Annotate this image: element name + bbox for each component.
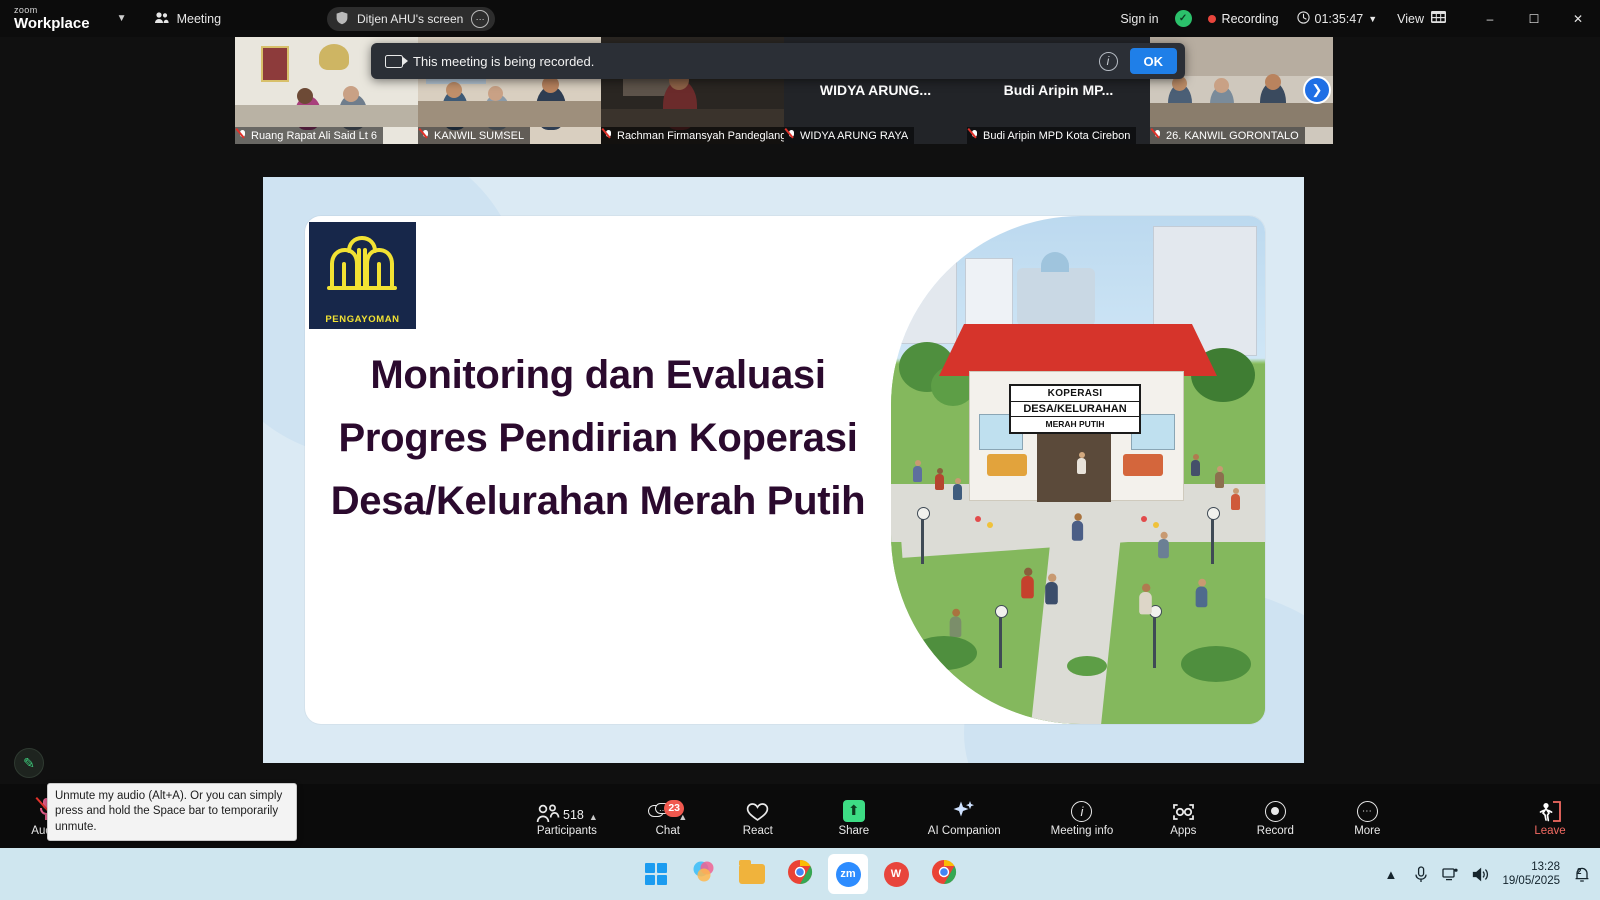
recording-camera-icon — [385, 55, 403, 68]
thumbnail-name-label: WIDYA ARUNG RAYA — [784, 127, 914, 144]
title-bar-right-controls: Sign in ✓ Recording 01:35:47 ▼ View – ☐ — [1120, 0, 1600, 37]
clock-date: 19/05/2025 — [1502, 874, 1560, 888]
bell-icon[interactable]: 2 — [1573, 866, 1590, 883]
share-screen-icon: ⬆ — [843, 796, 865, 822]
heart-icon — [746, 796, 769, 822]
notification-count: 2 — [1577, 867, 1581, 876]
more-button[interactable]: ⋯ More — [1335, 784, 1399, 848]
person-figure — [1231, 488, 1240, 510]
thumbnail-name-label: Budi Aripin MPD Kota Cirebon — [967, 127, 1136, 144]
shrub — [911, 636, 977, 670]
slide-title: Monitoring dan Evaluasi Progres Pendiria… — [305, 344, 891, 534]
shield-check-icon[interactable]: ✓ — [1175, 10, 1192, 27]
network-icon[interactable] — [1442, 866, 1459, 883]
person-figure — [953, 478, 962, 500]
flower — [975, 516, 981, 522]
view-label: View — [1397, 12, 1424, 26]
thumbnail-name-label: 26. KANWIL GORONTALO — [1150, 127, 1305, 144]
logo-zoom-text: zoom — [14, 6, 90, 15]
recording-status-label: Recording — [1222, 12, 1279, 26]
chrome-icon — [931, 859, 957, 890]
person-figure — [1215, 466, 1224, 488]
chevron-down-icon[interactable]: ▼ — [1368, 14, 1377, 24]
thumbnail-name-label: Rachman Firmansyah Pandeglang — [601, 127, 784, 144]
meeting-info-button[interactable]: i Meeting info — [1039, 784, 1126, 848]
chat-icon-group: ⋯ 23 ▲ — [648, 796, 687, 822]
grid-layout-icon — [1431, 11, 1446, 26]
close-icon[interactable]: ✕ — [1556, 0, 1600, 37]
thumbnail-name-label: KANWIL SUMSEL — [418, 127, 530, 144]
flower — [1141, 516, 1147, 522]
minimize-icon[interactable]: – — [1468, 0, 1512, 37]
thumbnail-display-name: Budi Aripin MP... — [967, 82, 1150, 98]
start-button[interactable] — [636, 854, 676, 894]
produce-stand — [1123, 454, 1163, 476]
participants-icon-group: 518 ▲ — [536, 796, 598, 822]
ai-companion-label: AI Companion — [928, 825, 1001, 837]
maximize-icon[interactable]: ☐ — [1512, 0, 1556, 37]
sparkle-icon — [952, 796, 976, 822]
screen-share-indicator[interactable]: Ditjen AHU's screen ⋯ — [327, 7, 495, 31]
person-figure — [1045, 574, 1058, 605]
microphone-icon[interactable] — [1412, 866, 1429, 883]
zoom-app[interactable]: zm — [828, 854, 868, 894]
more-dots-icon: ⋯ — [1357, 796, 1378, 822]
meeting-tab-label: Meeting — [177, 12, 221, 26]
view-button[interactable]: View — [1397, 11, 1446, 26]
meeting-tab[interactable]: Meeting — [154, 11, 221, 27]
person-figure — [913, 460, 922, 482]
chat-unread-badge: 23 — [664, 800, 684, 817]
chevron-down-icon[interactable]: ▼ — [112, 9, 132, 29]
logo-wordmark: PENGAYOMAN — [325, 314, 399, 325]
system-tray: ▲ 13:28 19/05/2025 — [1382, 860, 1590, 889]
shrub — [1067, 656, 1107, 676]
pencil-icon: ✎ — [23, 755, 35, 772]
more-label: More — [1354, 825, 1380, 837]
sign-line-1: KOPERASI — [1011, 388, 1139, 399]
shop-roof — [939, 324, 1217, 376]
wps-icon: W — [884, 862, 909, 887]
info-icon: i — [1071, 796, 1092, 822]
react-label: React — [743, 825, 773, 837]
zoom-workplace-logo: zoom Workplace — [14, 6, 90, 31]
participants-icon — [536, 804, 558, 822]
photos-app[interactable] — [684, 854, 724, 894]
leave-label: Leave — [1534, 825, 1565, 837]
recording-notification-banner: This meeting is being recorded. i OK — [371, 43, 1185, 79]
record-circle-icon — [1265, 796, 1286, 822]
apps-grid-icon — [1172, 796, 1195, 822]
apps-label: Apps — [1170, 825, 1196, 837]
clock-time: 13:28 — [1502, 860, 1560, 874]
ai-companion-button[interactable]: AI Companion — [916, 784, 1013, 848]
produce-stand — [987, 454, 1027, 476]
ok-button[interactable]: OK — [1130, 48, 1178, 74]
participants-count: 518 — [563, 808, 584, 822]
shop-sign: KOPERASI DESA/KELURAHAN MERAH PUTIH — [1009, 384, 1141, 434]
taskbar-apps: zm W — [636, 854, 964, 894]
title-bar: zoom Workplace ▼ Meeting Ditjen AHU's sc… — [0, 0, 1600, 37]
taskbar-clock[interactable]: 13:28 19/05/2025 — [1502, 860, 1560, 889]
speaker-icon[interactable] — [1472, 866, 1489, 883]
recording-status[interactable]: Recording — [1208, 12, 1279, 26]
flower — [987, 522, 993, 528]
more-dots-icon[interactable]: ⋯ — [471, 10, 489, 28]
microphone-muted-icon — [604, 129, 613, 142]
microphone-muted-icon — [238, 129, 247, 142]
photos-icon — [691, 859, 717, 890]
chat-label: Chat — [656, 825, 680, 837]
person-figure — [1077, 452, 1086, 474]
street-lamp — [1153, 614, 1156, 668]
apps-button[interactable]: Apps — [1151, 784, 1215, 848]
info-icon[interactable]: i — [1099, 52, 1118, 71]
shrub — [1181, 646, 1251, 682]
plaza-structure — [1017, 268, 1095, 326]
street-lamp — [999, 614, 1002, 668]
thumbnail-display-name: WIDYA ARUNG... — [784, 82, 967, 98]
fountain — [1041, 252, 1069, 272]
pengayoman-logo: PENGAYOMAN — [309, 222, 416, 329]
microphone-muted-icon — [970, 129, 979, 142]
person-figure — [1191, 454, 1200, 476]
share-pill-label: Ditjen AHU's screen — [357, 12, 463, 26]
record-button[interactable]: Record — [1243, 784, 1307, 848]
thumbnail-name-label: Ruang Rapat Ali Said Lt 6 — [235, 127, 383, 144]
leave-button[interactable]: Leave — [1518, 784, 1582, 848]
sign-in-link[interactable]: Sign in — [1120, 12, 1158, 26]
zoom-meeting-window: zoom Workplace ▼ Meeting Ditjen AHU's sc… — [0, 0, 1600, 900]
audio-tooltip: Unmute my audio (Alt+A). Or you can simp… — [47, 783, 297, 841]
chat-button[interactable]: ⋯ 23 ▲ Chat — [636, 784, 700, 848]
windows-taskbar: zm W ▲ — [0, 848, 1600, 900]
share-button[interactable]: ⬆ Share — [822, 784, 886, 848]
recording-dot-icon — [1208, 15, 1216, 23]
shared-screen-content[interactable]: PENGAYOMAN Monitoring dan Evaluasi Progr… — [263, 177, 1304, 763]
recording-banner-text: This meeting is being recorded. — [413, 54, 1099, 69]
person-figure — [935, 468, 944, 490]
shop-door — [1037, 422, 1111, 502]
chevron-up-icon[interactable]: ▲ — [1382, 866, 1399, 883]
chevron-right-icon[interactable]: ❯ — [1303, 76, 1331, 104]
chrome-icon — [787, 859, 813, 890]
microphone-muted-icon — [421, 129, 430, 142]
flower — [1153, 522, 1159, 528]
chat-bubble-icon: ⋯ 23 — [648, 803, 671, 822]
file-explorer[interactable] — [732, 854, 772, 894]
folder-icon — [739, 864, 765, 884]
leave-door-icon — [1538, 796, 1562, 822]
slide-illustration: KOPERASI DESA/KELURAHAN MERAH PUTIH — [891, 216, 1265, 724]
person-figure — [1158, 532, 1169, 558]
street-lamp — [1211, 516, 1214, 564]
meeting-timer-label: 01:35:47 — [1315, 12, 1364, 26]
wps-office[interactable]: W — [876, 854, 916, 894]
react-button[interactable]: React — [726, 784, 790, 848]
windows-logo-icon — [645, 863, 667, 885]
meeting-info-label: Meeting info — [1051, 825, 1114, 837]
clock-icon — [1297, 11, 1310, 27]
participants-button[interactable]: 518 ▲ Participants — [524, 784, 610, 848]
person-figure — [1072, 513, 1083, 541]
record-label: Record — [1257, 825, 1294, 837]
chrome-browser[interactable] — [780, 854, 820, 894]
participants-label: Participants — [537, 825, 597, 837]
person-figure — [1021, 568, 1034, 599]
presentation-slide: PENGAYOMAN Monitoring dan Evaluasi Progr… — [305, 216, 1265, 724]
logo-workplace-text: Workplace — [14, 16, 90, 31]
zoom-icon: zm — [836, 862, 861, 887]
building — [901, 234, 957, 344]
person-figure — [1139, 584, 1152, 615]
shield-share-icon — [335, 11, 349, 28]
sign-line-2: DESA/KELURAHAN — [1011, 401, 1139, 417]
share-label: Share — [838, 825, 869, 837]
sign-line-3: MERAH PUTIH — [1011, 419, 1139, 429]
slide-text-column: PENGAYOMAN Monitoring dan Evaluasi Progr… — [305, 216, 891, 724]
annotate-pen-button[interactable]: ✎ — [14, 748, 44, 778]
meeting-timer[interactable]: 01:35:47 ▼ — [1297, 11, 1378, 27]
microphone-muted-icon — [1153, 129, 1162, 142]
person-figure — [1196, 579, 1208, 608]
chrome-window-2[interactable] — [924, 854, 964, 894]
illustration-scene: KOPERASI DESA/KELURAHAN MERAH PUTIH — [891, 216, 1265, 724]
person-figure — [950, 609, 962, 638]
street-lamp — [921, 516, 924, 564]
people-icon — [154, 11, 169, 27]
chevron-up-icon[interactable]: ▲ — [589, 812, 598, 822]
microphone-muted-icon — [787, 129, 796, 142]
